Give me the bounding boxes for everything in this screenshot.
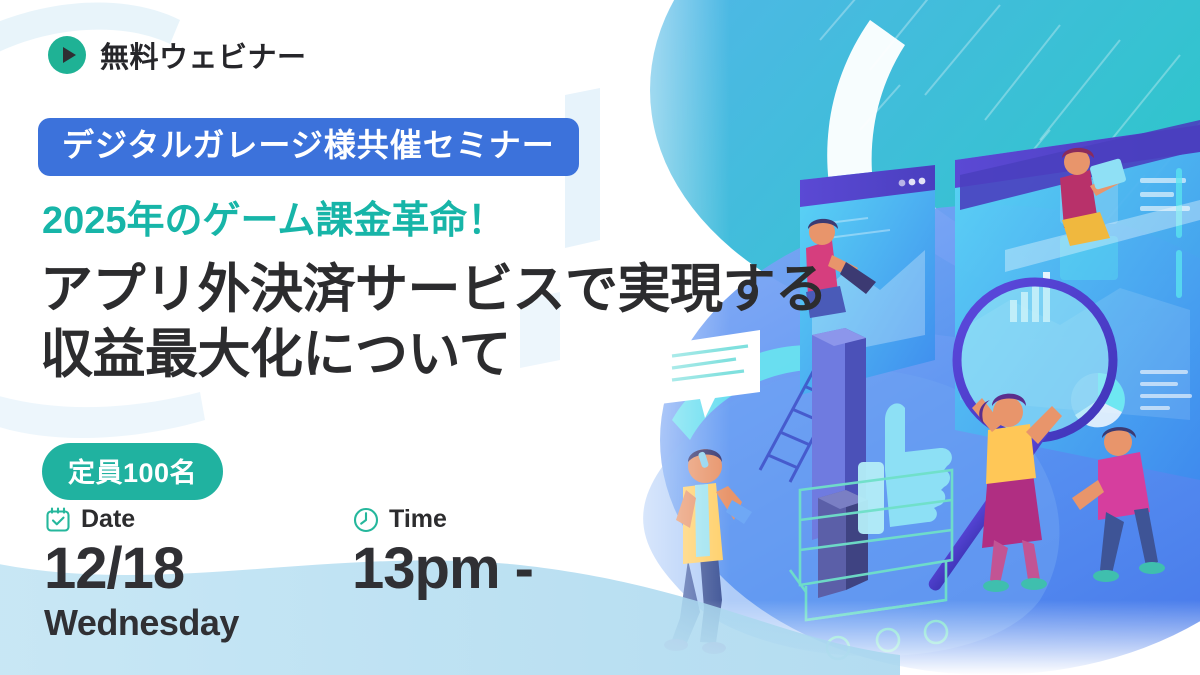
person-holding-magnifier <box>972 394 1062 592</box>
date-value: 12/18 <box>44 540 292 598</box>
headline-line-1: アプリ外決済サービスで実現する <box>40 258 828 323</box>
cohost-badge: デジタルガレージ様共催セミナー <box>38 118 579 176</box>
shopping-cart-graphic <box>790 470 952 659</box>
ramp-shape <box>960 120 1200 272</box>
kicker-text: 2025年のゲーム課金革命！ <box>42 201 505 243</box>
eyebrow-row: 無料ウェビナー <box>48 34 307 76</box>
time-heading: Time <box>352 505 602 534</box>
webinar-banner: 無料ウェビナー デジタルガレージ様共催セミナー 2025年のゲーム課金革命！ ア… <box>0 0 1200 675</box>
calendar-check-icon <box>44 506 72 534</box>
dashboard-panel-back <box>955 125 1200 480</box>
date-weekday: Wednesday <box>44 605 292 641</box>
capacity-badge: 定員100名 <box>42 443 223 500</box>
date-label: Date <box>81 505 135 534</box>
schedule-row: Date 12/18 Wednesday Time 13pm - <box>44 505 602 641</box>
server-box-graphic <box>818 490 868 598</box>
pie-chart-graphic <box>1071 373 1125 427</box>
time-block: Time 13pm - <box>292 505 602 598</box>
person-pushing-handle <box>1072 427 1165 582</box>
banner-content: 無料ウェビナー デジタルガレージ様共催セミナー 2025年のゲーム課金革命！ ア… <box>0 0 700 675</box>
clock-icon <box>352 506 380 534</box>
person-on-ramp-with-tablet <box>1060 148 1127 246</box>
time-value: 13pm - <box>352 540 602 598</box>
time-label: Time <box>389 505 447 534</box>
eyebrow-label: 無料ウェビナー <box>100 34 307 76</box>
magnifying-glass-graphic <box>926 282 1113 593</box>
date-heading: Date <box>44 505 292 534</box>
headline-line-2: 収益最大化について <box>40 323 828 388</box>
page-title: アプリ外決済サービスで実現する 収益最大化について <box>40 258 828 387</box>
thumbs-up-graphic <box>858 403 952 534</box>
date-block: Date 12/18 Wednesday <box>44 505 292 641</box>
play-circle-icon <box>48 36 86 74</box>
